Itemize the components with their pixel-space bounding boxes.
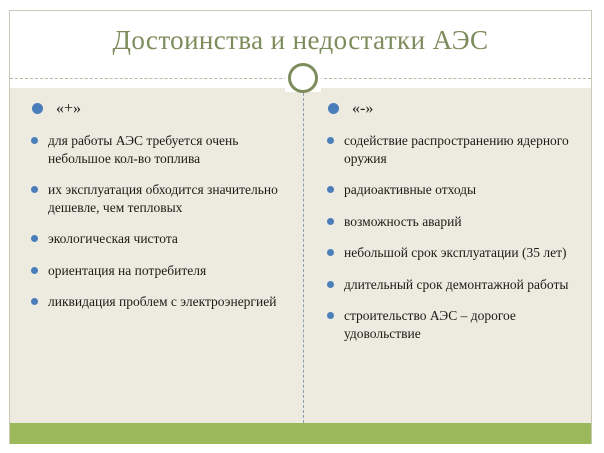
list-item: ликвидация проблем с электроэнергией xyxy=(26,293,289,311)
list-item: небольшой срок эксплуатации (35 лет) xyxy=(322,244,581,262)
disadvantages-column: «-» содействие распространению ядерного … xyxy=(304,88,591,356)
disadvantages-heading: «-» xyxy=(322,100,581,118)
advantages-heading: «+» xyxy=(26,100,289,118)
footer-band xyxy=(10,423,591,444)
list-item: возможность аварий xyxy=(322,213,581,231)
list-item: строительство АЭС – дорогое удовольствие xyxy=(322,307,581,342)
list-item: их эксплуатация обходится значительно де… xyxy=(26,181,289,216)
list-item: экологическая чистота xyxy=(26,230,289,248)
list-item: радиоактивные отходы xyxy=(322,181,581,199)
disadvantages-heading-list: «-» xyxy=(322,100,581,118)
page-title: Достоинства и недостатки АЭС xyxy=(10,25,591,56)
list-item: длительный срок демонтажной работы xyxy=(322,276,581,294)
circle-decoration-icon xyxy=(288,63,318,93)
list-item: содействие распространению ядерного оруж… xyxy=(322,132,581,167)
slide: Достоинства и недостатки АЭС «+» для раб… xyxy=(0,0,604,453)
list-item: для работы АЭС требуется очень небольшое… xyxy=(26,132,289,167)
advantages-list: для работы АЭС требуется очень небольшое… xyxy=(26,132,289,311)
disadvantages-list: содействие распространению ядерного оруж… xyxy=(322,132,581,342)
advantages-heading-list: «+» xyxy=(26,100,289,118)
list-item: ориентация на потребителя xyxy=(26,262,289,280)
column-divider xyxy=(303,88,304,423)
advantages-column: «+» для работы АЭС требуется очень небол… xyxy=(10,88,303,325)
